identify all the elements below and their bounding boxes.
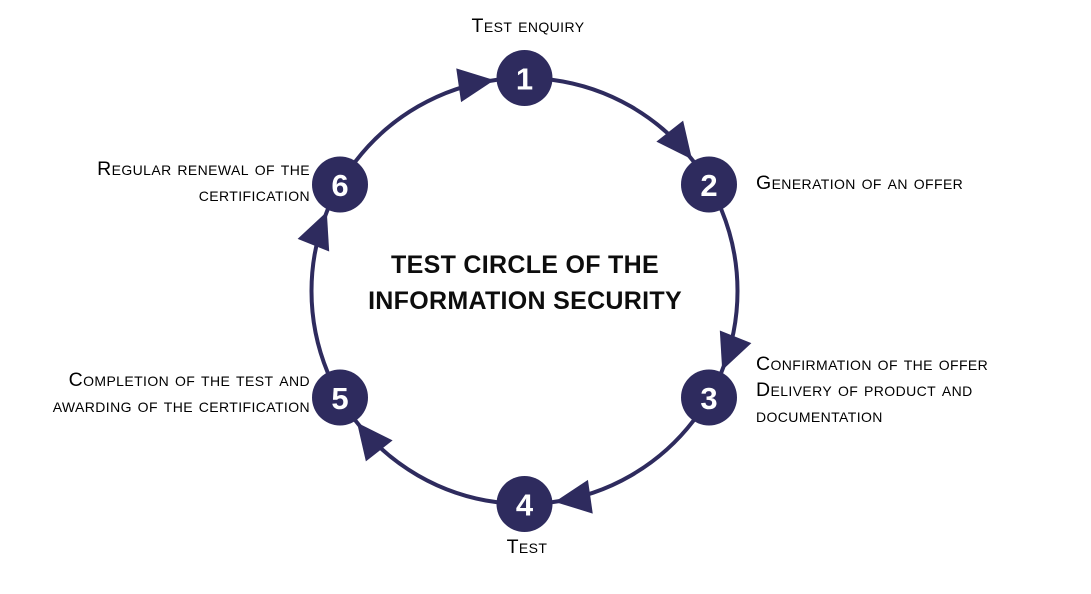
step-node-number-1: 1	[516, 62, 533, 97]
step-node-number-3: 3	[700, 381, 717, 416]
diagram-canvas: 123456 TEST CIRCLE OF THE INFORMATION SE…	[0, 0, 1091, 594]
step-node-number-4: 4	[516, 488, 534, 523]
cycle-arrowhead-4	[555, 480, 593, 514]
step-node-number-6: 6	[331, 168, 348, 203]
step-label-1: Test enquiry	[400, 14, 656, 40]
step-node-number-5: 5	[331, 381, 348, 416]
cycle-arrowhead-1	[456, 68, 494, 102]
step-node-number-2: 2	[700, 168, 717, 203]
cycle-arrowhead-3	[720, 331, 752, 371]
step-label-6: Regular renewal of the certification	[40, 157, 310, 209]
step-label-3: Confirmation of the offer Delivery of pr…	[756, 352, 1086, 430]
step-label-5: Completion of the test and awarding of t…	[10, 368, 310, 420]
cycle-arrowhead-6	[298, 212, 330, 252]
step-label-4: Test	[432, 535, 622, 561]
diagram-center-title: TEST CIRCLE OF THE INFORMATION SECURITY	[330, 248, 720, 319]
step-label-2: Generation of an offer	[756, 171, 1076, 197]
